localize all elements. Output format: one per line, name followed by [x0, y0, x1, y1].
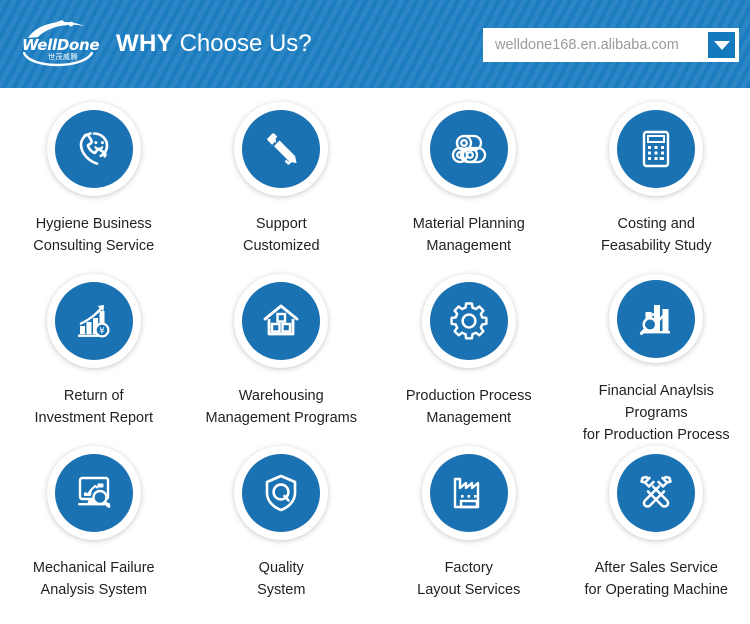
- shield-q-icon: [258, 470, 304, 516]
- gear-icon: [446, 298, 492, 344]
- service-item[interactable]: After Sales Service for Operating Machin…: [563, 446, 750, 618]
- headline-why: WHY: [116, 30, 173, 57]
- service-label: Hygiene Business Consulting Service: [33, 213, 154, 257]
- website-url-field[interactable]: welldone168.en.alibaba.com: [483, 28, 739, 62]
- services-grid: Hygiene Business Consulting Service: [0, 88, 750, 618]
- service-item[interactable]: ¥ Return of Investment Report: [0, 274, 188, 446]
- chart-magnifier-icon: [633, 296, 679, 342]
- service-label: After Sales Service for Operating Machin…: [585, 557, 728, 601]
- service-item[interactable]: Factory Layout Services: [375, 446, 563, 618]
- service-icon-badge[interactable]: [422, 102, 516, 196]
- service-icon-badge[interactable]: [234, 102, 328, 196]
- service-icon-badge[interactable]: [234, 274, 328, 368]
- monitor-robot-search-icon: [71, 470, 117, 516]
- page-title: WHY Choose Us?: [116, 30, 312, 58]
- service-label: Financial Anaylsis Programs for Producti…: [566, 380, 746, 446]
- chevron-down-icon[interactable]: [708, 32, 735, 58]
- service-item[interactable]: Quality System: [188, 446, 376, 618]
- service-item[interactable]: Mechanical Failure Analysis System: [0, 446, 188, 618]
- service-label: Production Process Management: [406, 385, 532, 429]
- factory-icon: [446, 470, 492, 516]
- service-icon-badge[interactable]: [47, 102, 141, 196]
- pencil-ruler-icon: [258, 126, 304, 172]
- header-banner: WellDone 世茂威腾 WHY Choose Us? welldone168…: [0, 0, 750, 88]
- service-label: Costing and Feasability Study: [601, 213, 711, 257]
- service-item[interactable]: Material Planning Management: [375, 102, 563, 274]
- service-label: Warehousing Management Programs: [205, 385, 357, 429]
- service-item[interactable]: Costing and Feasability Study: [563, 102, 750, 274]
- service-label: Support Customized: [243, 213, 320, 257]
- logo-wordmark: WellDone: [22, 38, 94, 53]
- website-url-text[interactable]: welldone168.en.alibaba.com: [495, 37, 708, 54]
- service-item[interactable]: Warehousing Management Programs: [188, 274, 376, 446]
- wrench-screwdriver-icon: [633, 470, 679, 516]
- service-label: Return of Investment Report: [35, 385, 153, 429]
- service-icon-badge[interactable]: ¥: [47, 274, 141, 368]
- logo-arc-icon: [23, 52, 93, 70]
- service-label: Material Planning Management: [413, 213, 525, 257]
- service-item[interactable]: Support Customized: [188, 102, 376, 274]
- service-icon-badge[interactable]: [609, 274, 703, 363]
- service-item[interactable]: Hygiene Business Consulting Service: [0, 102, 188, 274]
- growth-chart-yen-icon: ¥: [71, 298, 117, 344]
- service-label: Mechanical Failure Analysis System: [33, 557, 155, 601]
- welldone-logo: WellDone 世茂威腾: [22, 16, 94, 72]
- phone-smile-icon: [71, 126, 117, 172]
- service-icon-badge[interactable]: [422, 446, 516, 540]
- stacked-pipes-icon: [446, 126, 492, 172]
- service-item[interactable]: Financial Anaylsis Programs for Producti…: [563, 274, 750, 446]
- service-icon-badge[interactable]: [609, 102, 703, 196]
- svg-text:¥: ¥: [99, 326, 105, 336]
- warehouse-boxes-icon: [258, 298, 304, 344]
- service-icon-badge[interactable]: [47, 446, 141, 540]
- service-icon-badge[interactable]: [609, 446, 703, 540]
- headline-rest: Choose Us?: [173, 30, 312, 57]
- service-label: Quality System: [257, 557, 305, 601]
- service-icon-badge[interactable]: [422, 274, 516, 368]
- service-icon-badge[interactable]: [234, 446, 328, 540]
- service-item[interactable]: Production Process Management: [375, 274, 563, 446]
- service-label: Factory Layout Services: [417, 557, 520, 601]
- calculator-icon: [633, 126, 679, 172]
